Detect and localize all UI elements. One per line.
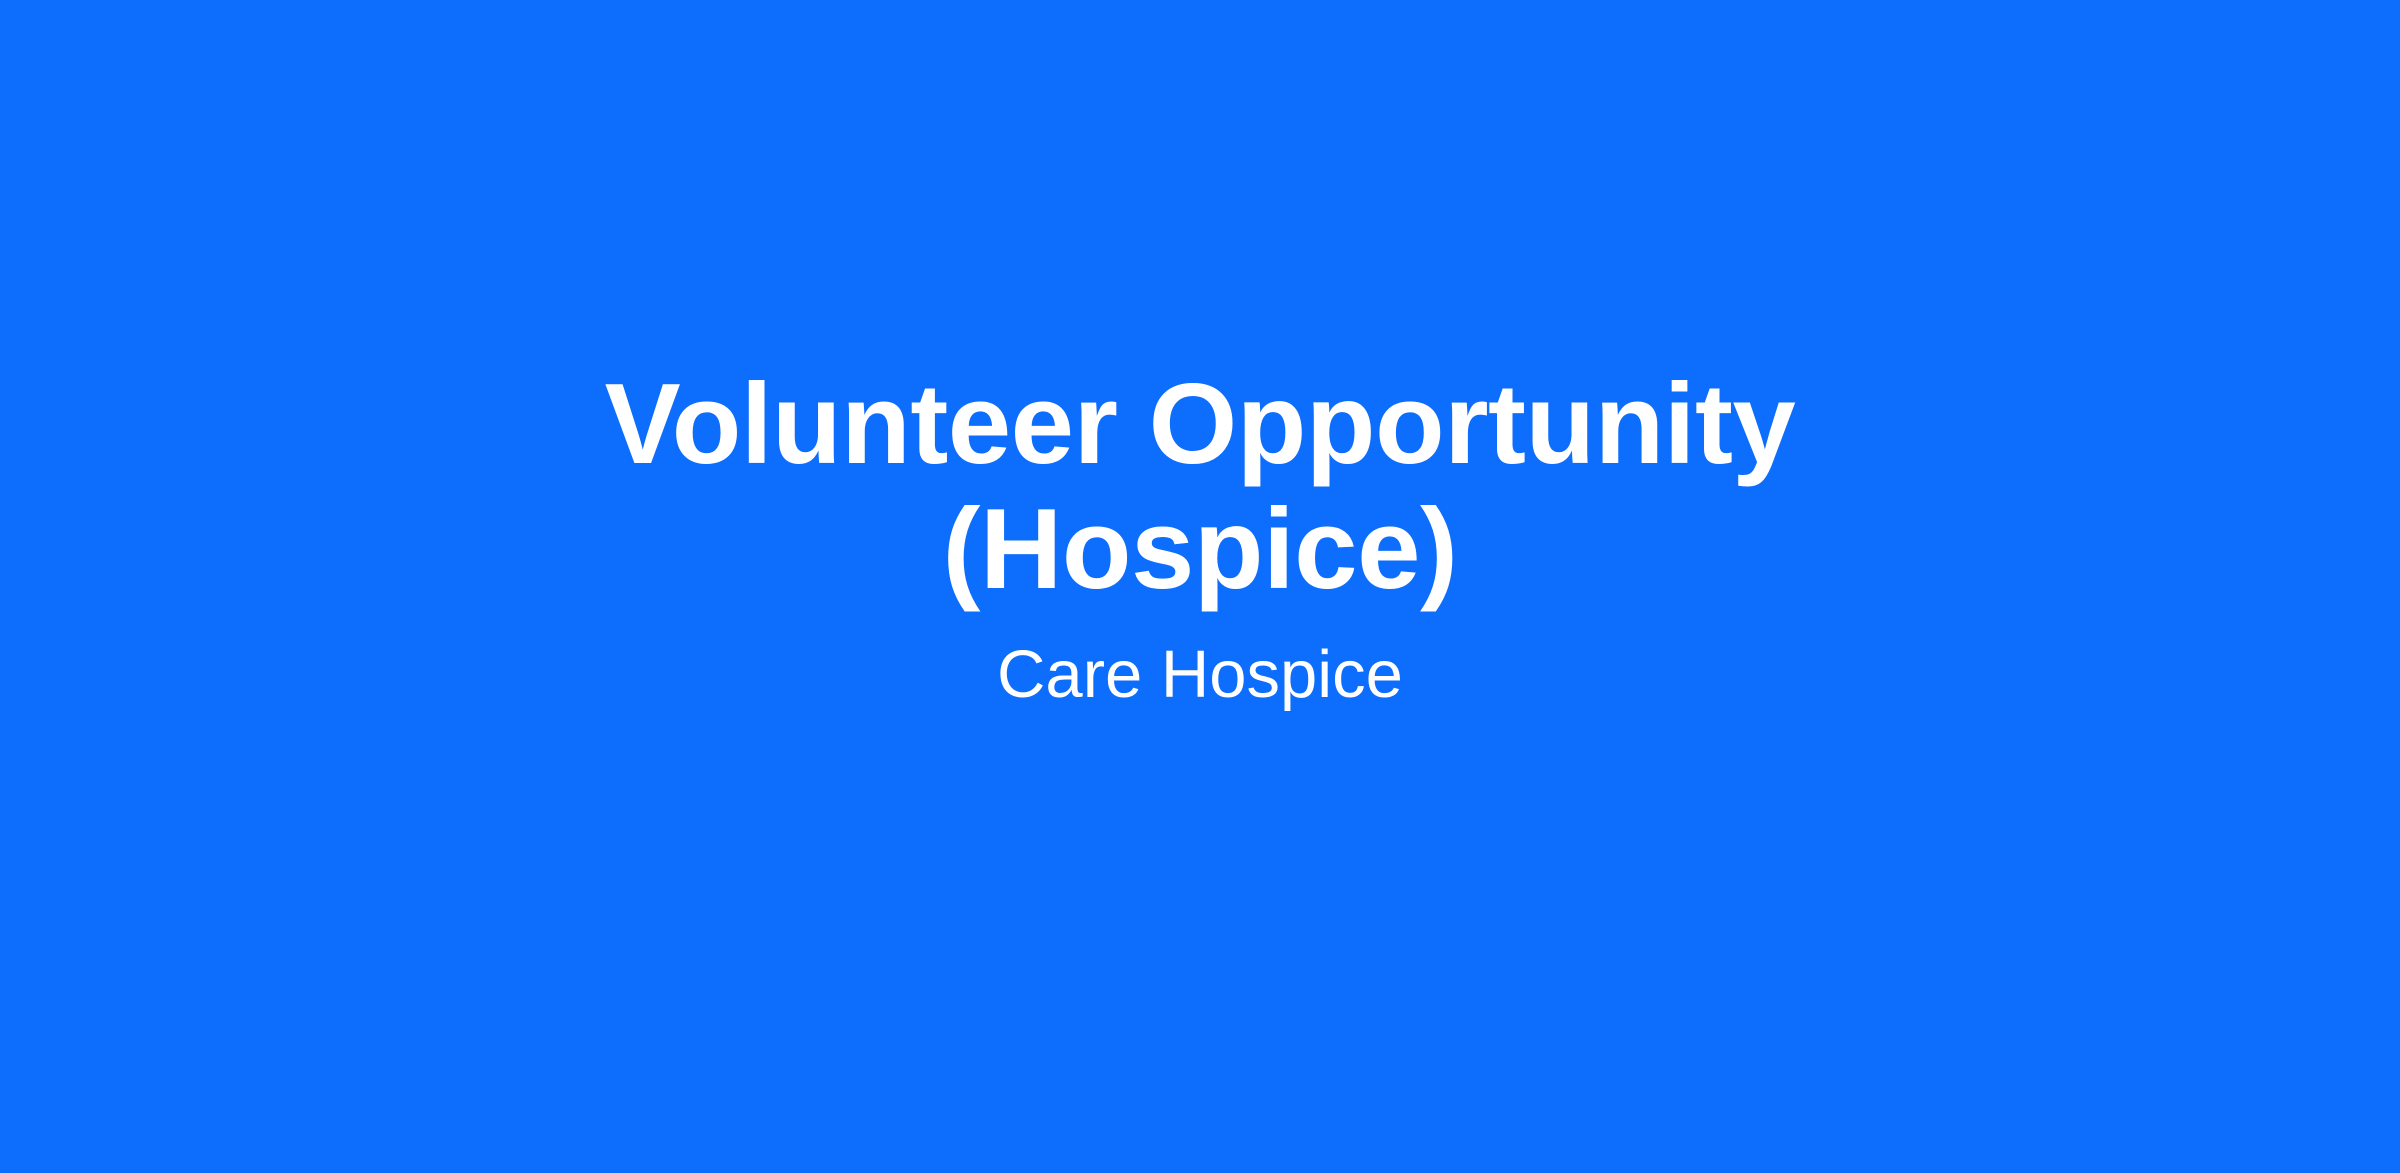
page-title: Volunteer Opportunity (Hospice) [540, 362, 1860, 613]
hero-banner: Volunteer Opportunity (Hospice) Care Hos… [0, 0, 2400, 1173]
page-subtitle: Care Hospice [997, 635, 1403, 715]
hero-content-block: Volunteer Opportunity (Hospice) Care Hos… [350, 362, 2050, 715]
